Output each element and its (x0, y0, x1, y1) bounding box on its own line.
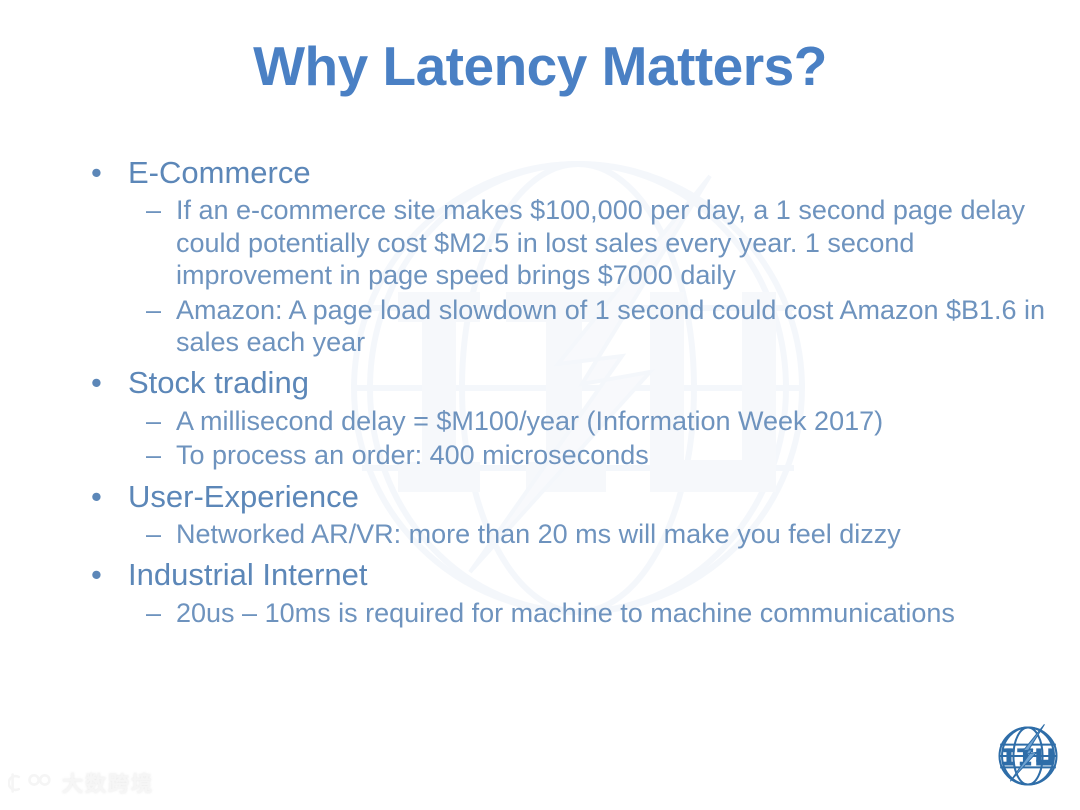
bullet-level2: – To process an order: 400 microseconds (78, 439, 1048, 471)
bullet-level2: – A millisecond delay = $M100/year (Info… (78, 405, 1048, 437)
bullet-level2: – 20us – 10ms is required for machine to… (78, 597, 1048, 629)
itu-logo (990, 718, 1066, 794)
bullet-dot-icon: • (91, 556, 102, 594)
bullet-dash-icon: – (146, 439, 161, 471)
bullet-level1-label: Industrial Internet (128, 557, 368, 592)
bullet-dash-icon: – (146, 294, 161, 326)
slide-body: • E-Commerce – If an e-commerce site mak… (78, 150, 1048, 631)
bullet-level2-label: If an e-commerce site makes $100,000 per… (176, 195, 1025, 290)
bullet-dash-icon: – (146, 597, 161, 629)
bullet-level1: • Stock trading (78, 364, 1048, 402)
site-watermark-text: 大数跨境 (62, 768, 154, 798)
bullet-dot-icon: • (91, 154, 102, 192)
bullet-level1-label: E-Commerce (128, 155, 311, 190)
bullet-level2-label: Amazon: A page load slowdown of 1 second… (176, 295, 1045, 357)
bullet-level1: • User-Experience (78, 478, 1048, 516)
bullet-level2-label: To process an order: 400 microseconds (176, 440, 649, 470)
bullet-group: • User-Experience – Networked AR/VR: mor… (78, 478, 1048, 551)
bullet-level2: – Networked AR/VR: more than 20 ms will … (78, 518, 1048, 550)
bullet-dot-icon: • (91, 364, 102, 402)
bullet-level1: • Industrial Internet (78, 556, 1048, 594)
bullet-level2: – If an e-commerce site makes $100,000 p… (78, 194, 1048, 291)
bullet-level2-label: 20us – 10ms is required for machine to m… (176, 598, 955, 628)
site-watermark-logo-icon (8, 770, 54, 796)
bullet-level1-label: Stock trading (128, 365, 309, 400)
bullet-level1-label: User-Experience (128, 479, 359, 514)
bullet-dash-icon: – (146, 405, 161, 437)
bullet-group: • Industrial Internet – 20us – 10ms is r… (78, 556, 1048, 629)
bullet-dash-icon: – (146, 518, 161, 550)
page-title: Why Latency Matters? (0, 36, 1080, 97)
bullet-level1: • E-Commerce (78, 154, 1048, 192)
bullet-level2-label: Networked AR/VR: more than 20 ms will ma… (176, 519, 901, 549)
bullet-level2: – Amazon: A page load slowdown of 1 seco… (78, 294, 1048, 359)
bullet-level2-label: A millisecond delay = $M100/year (Inform… (176, 406, 883, 436)
slide-canvas: Why Latency Matters? • E-Commerce – If a… (0, 0, 1080, 810)
bullet-group: • Stock trading – A millisecond delay = … (78, 364, 1048, 471)
site-watermark: 大数跨境 (8, 768, 154, 798)
bullet-group: • E-Commerce – If an e-commerce site mak… (78, 154, 1048, 358)
bullet-dash-icon: – (146, 194, 161, 226)
bullet-dot-icon: • (91, 478, 102, 516)
